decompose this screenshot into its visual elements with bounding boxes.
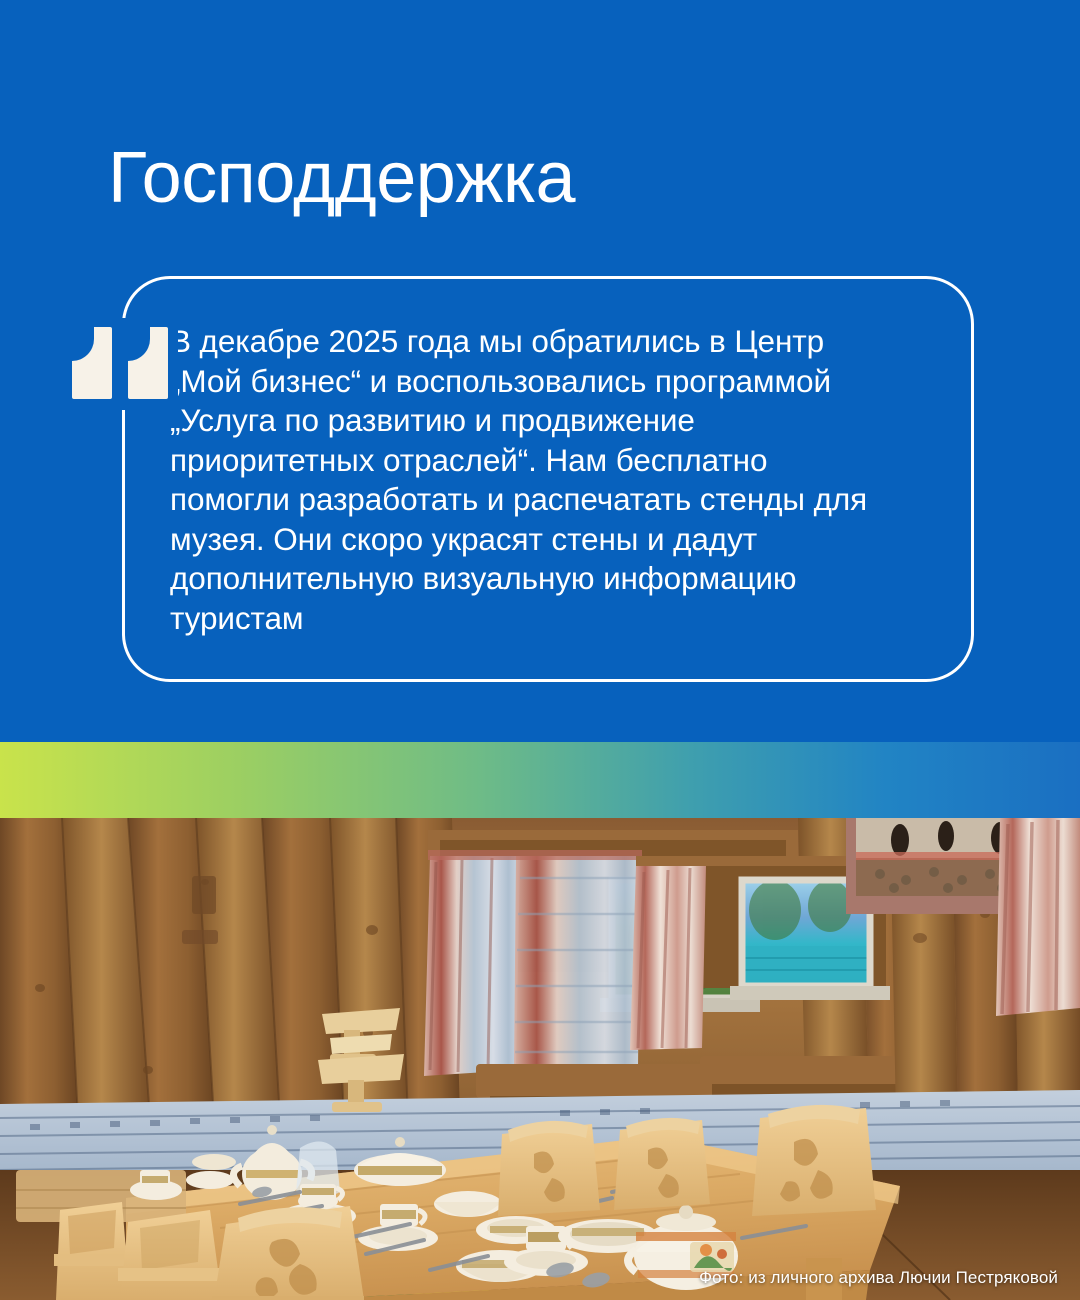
photo-caption: Фото: из личного архива Лючии Пестряково… (699, 1268, 1058, 1288)
gradient-divider (0, 742, 1080, 818)
photo-region: Фото: из личного архива Лючии Пестряково… (0, 818, 1080, 1300)
top-blue-panel: Господдержка В декабре 2025 года мы обра… (0, 0, 1080, 742)
page-title: Господдержка (108, 142, 575, 214)
poster-canvas: Господдержка В декабре 2025 года мы обра… (0, 0, 1080, 1300)
quote-open-glyph-icon (72, 327, 168, 399)
cabin-interior-illustration (0, 818, 1080, 1300)
quote-text: В декабре 2025 года мы обратились в Цент… (170, 322, 870, 638)
